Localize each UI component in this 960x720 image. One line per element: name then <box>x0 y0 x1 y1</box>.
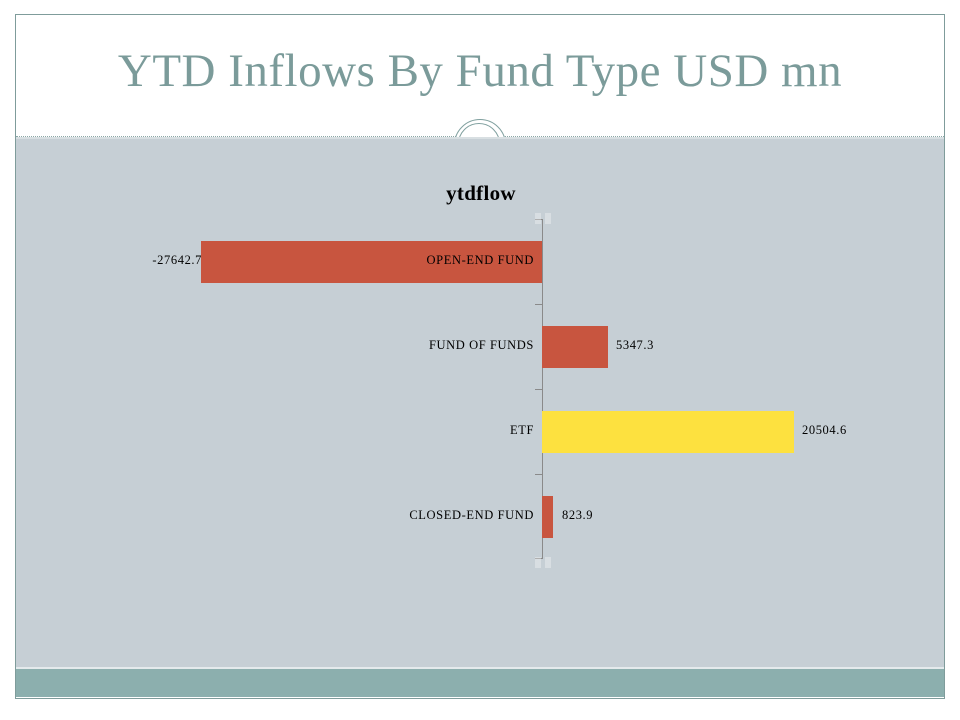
page-title: YTD Inflows By Fund Type USD mn <box>16 43 944 99</box>
bar-chart: ytdflow OPEN-END FUND -27642.7 FUND OF F… <box>16 137 945 671</box>
bar-category-label: OPEN-END FUND <box>427 253 534 268</box>
bar-value-label: 823.9 <box>562 508 593 523</box>
table-row: ETF 20504.6 <box>16 389 945 474</box>
bar-value-label: 5347.3 <box>616 338 654 353</box>
footer-band <box>16 669 944 697</box>
table-row: CLOSED-END FUND 823.9 <box>16 474 945 559</box>
bar-value-label: 20504.6 <box>802 423 847 438</box>
bar-category-label: CLOSED-END FUND <box>409 508 534 523</box>
bar-category-label: FUND OF FUNDS <box>429 338 534 353</box>
chart-title: ytdflow <box>16 181 945 206</box>
table-row: FUND OF FUNDS 5347.3 <box>16 304 945 389</box>
bar-fund-of-funds[interactable] <box>542 326 608 368</box>
table-row: OPEN-END FUND -27642.7 <box>16 219 945 304</box>
bar-closed-end-fund[interactable] <box>542 496 553 538</box>
plot-area: OPEN-END FUND -27642.7 FUND OF FUNDS 534… <box>16 219 945 559</box>
bar-etf[interactable] <box>542 411 794 453</box>
bar-value-label: -27642.7 <box>152 253 202 268</box>
bar-category-label: ETF <box>510 423 534 438</box>
slide: YTD Inflows By Fund Type USD mn ytdflow … <box>15 14 945 699</box>
